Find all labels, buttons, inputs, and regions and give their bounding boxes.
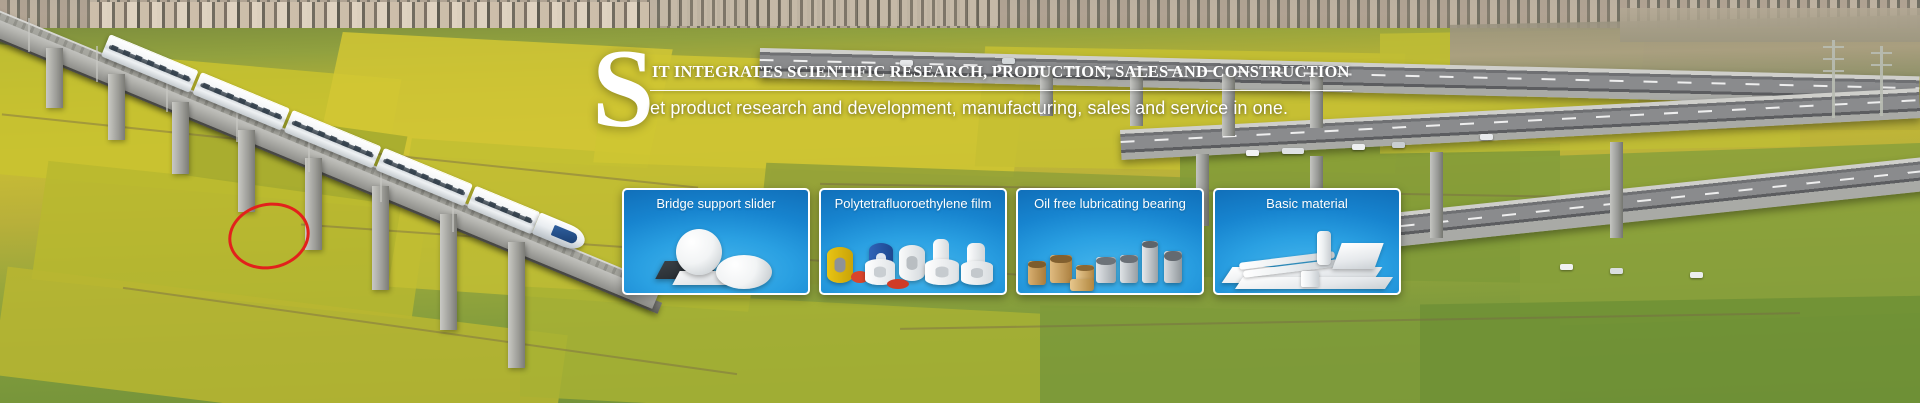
viaduct-pier: [108, 74, 125, 140]
white-block: [1332, 243, 1383, 269]
tape-ring-red: [887, 279, 909, 289]
power-pylon: [1880, 46, 1883, 116]
viaduct-pier: [172, 102, 189, 174]
product-card-title: Oil free lubricating bearing: [1018, 196, 1202, 212]
vehicle: [1392, 142, 1405, 148]
vehicle: [1560, 264, 1573, 270]
field-patch: [1420, 295, 1920, 403]
train-windshield: [551, 225, 579, 245]
catenary-mast: [96, 46, 98, 82]
bronze-ring: [1070, 279, 1094, 291]
white-disc: [676, 229, 722, 275]
product-card-image: [624, 221, 808, 293]
vehicle: [1480, 134, 1493, 140]
product-card-image: [1215, 221, 1399, 293]
catenary-mast: [28, 18, 30, 52]
product-card-title: Bridge support slider: [624, 196, 808, 212]
bronze-bushing: [1050, 255, 1072, 283]
vehicle: [1690, 272, 1703, 278]
bronze-bushing: [1028, 261, 1046, 285]
vehicle: [1352, 144, 1365, 150]
product-card-image: [821, 221, 1005, 293]
headline-divider: [650, 90, 1352, 91]
product-card-ptfe-film[interactable]: Polytetrafluoroethylene film: [819, 188, 1007, 295]
white-cylinder: [1317, 231, 1331, 265]
product-card-list: Bridge support slider Polytetrafluoroeth…: [622, 188, 1401, 295]
tape-roll-white: [899, 245, 925, 281]
product-card-image: [1018, 221, 1202, 293]
vehicle: [1610, 268, 1623, 274]
product-card-title: Polytetrafluoroethylene film: [821, 196, 1005, 212]
white-disc: [716, 255, 772, 289]
white-block-small: [1301, 271, 1319, 287]
vehicle: [1246, 150, 1259, 156]
product-card-bridge-support-slider[interactable]: Bridge support slider: [622, 188, 810, 295]
highway-pier: [1610, 142, 1623, 238]
vehicle: [1282, 148, 1304, 154]
product-card-basic-material[interactable]: Basic material: [1213, 188, 1401, 295]
power-pylon: [1832, 40, 1835, 118]
steel-bushing: [1096, 257, 1116, 283]
ptfe-bushing: [961, 261, 993, 285]
viaduct-pier: [238, 130, 255, 212]
steel-bushing: [1120, 255, 1138, 283]
steel-sleeve: [1142, 241, 1158, 283]
viaduct-pier: [46, 48, 63, 108]
ptfe-bushing: [925, 259, 959, 285]
product-card-title: Basic material: [1215, 196, 1399, 212]
product-card-oil-free-lubricating-bearing[interactable]: Oil free lubricating bearing: [1016, 188, 1204, 295]
steel-sleeve: [1164, 251, 1182, 283]
highway-pier: [1430, 152, 1443, 238]
hero-headline: IT INTEGRATES SCIENTIFIC RESEARCH, PRODU…: [652, 62, 1352, 82]
hero-banner: S IT INTEGRATES SCIENTIFIC RESEARCH, PRO…: [0, 0, 1920, 403]
dropcap-letter: S: [592, 38, 654, 141]
tape-roll-yellow: [827, 247, 853, 283]
viaduct-pier: [508, 242, 525, 368]
village-rooftops-center: [660, 0, 1000, 26]
hero-subline: et product research and development, man…: [650, 98, 1370, 119]
river-sandbank-far: [1620, 8, 1920, 42]
viaduct-pier: [440, 214, 457, 330]
